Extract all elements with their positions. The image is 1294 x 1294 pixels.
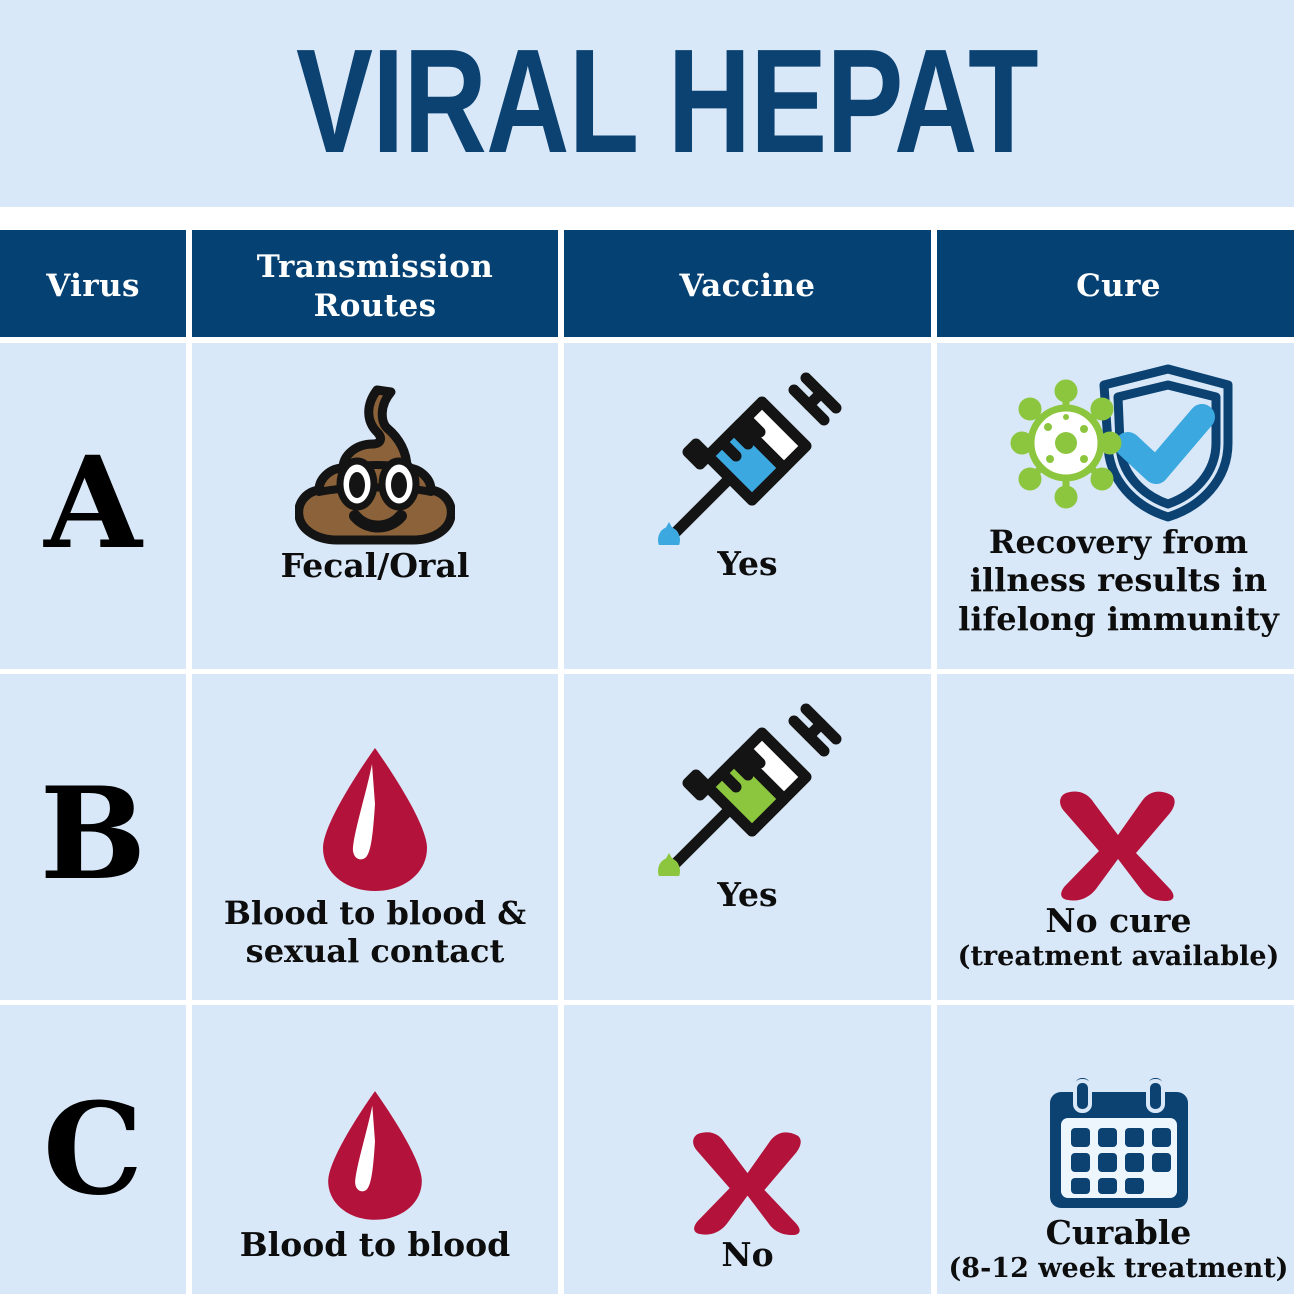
cell-cure-a: Recovery from illness results in lifelon… [937,343,1294,669]
infographic-page: VIRAL HEPAT Virus Transmission Routes Va… [0,0,1294,1294]
table-row: C Blood to blood [0,1005,1294,1294]
cure-label-c-primary: Curable [949,1214,1289,1253]
transmission-label-b-line1: Blood to blood & [224,894,526,932]
page-title: VIRAL HEPAT [296,22,1038,182]
cell-vaccine-b: Yes [564,674,931,1000]
table-header-row: Virus Transmission Routes Vaccine Cure [0,230,1294,337]
cure-label-a-line2: illness results in [970,561,1267,599]
cure-label-c: Curable (8-12 week treatment) [941,1214,1294,1285]
table-row: A [0,343,1294,669]
cure-label-a: Recovery from illness results in lifelon… [950,523,1287,638]
virus-letter-b: B [40,771,147,897]
table-body: A [0,343,1294,1294]
column-header-transmission-routes-label: Transmission Routes [257,248,494,326]
cell-cure-b: No cure (treatment available) [937,674,1294,1000]
blood-drop-icon [192,1005,558,1226]
hepatitis-comparison-table: Virus Transmission Routes Vaccine Cure A [0,230,1294,1294]
cell-virus-a: A [0,343,186,669]
cell-vaccine-c: No [564,1005,931,1294]
vaccine-label-c: No [713,1236,781,1275]
cure-label-b: No cure (treatment available) [950,902,1288,973]
cure-label-a-line3: lifelong immunity [958,600,1279,638]
syringe-icon [564,343,931,545]
virus-letter-a: A [44,440,142,566]
virus-shield-check-icon [937,343,1294,523]
column-header-vaccine: Vaccine [564,230,931,337]
poop-icon [192,343,558,547]
red-x-icon [564,1005,931,1236]
cell-virus-b: B [0,674,186,1000]
transmission-label-a: Fecal/Oral [273,547,478,586]
column-header-transmission-routes: Transmission Routes [192,230,558,337]
column-header-vaccine-label: Vaccine [680,267,816,306]
transmission-label-b: Blood to blood & sexual contact [216,894,534,971]
virus-letter-c: C [43,1086,143,1212]
red-x-icon [937,674,1294,902]
cell-cure-c: Curable (8-12 week treatment) [937,1005,1294,1294]
blood-drop-icon [192,674,558,894]
column-header-virus-label: Virus [46,267,140,306]
vaccine-label-a: Yes [709,545,785,584]
column-header-cure: Cure [937,230,1294,337]
calendar-icon [937,1005,1294,1214]
cure-label-b-primary: No cure [958,902,1280,941]
table-row: B Blood to blood & sexual contact [0,674,1294,1000]
column-header-cure-label: Cure [1076,267,1161,306]
cell-vaccine-a: Yes [564,343,931,669]
cell-virus-c: C [0,1005,186,1294]
cure-label-a-line1: Recovery from [989,523,1248,561]
column-header-virus: Virus [0,230,186,337]
cell-transmission-b: Blood to blood & sexual contact [192,674,558,1000]
cell-transmission-c: Blood to blood [192,1005,558,1294]
cure-label-b-secondary: (treatment available) [958,941,1280,973]
syringe-icon [564,674,931,876]
vaccine-label-b: Yes [709,876,785,915]
transmission-header-line1: Transmission [257,249,494,285]
transmission-label-b-line2: sexual contact [246,932,505,970]
title-banner: VIRAL HEPAT [0,0,1294,207]
transmission-label-c: Blood to blood [232,1226,518,1265]
cell-transmission-a: Fecal/Oral [192,343,558,669]
cure-label-c-secondary: (8-12 week treatment) [949,1253,1289,1285]
transmission-header-line2: Routes [314,288,437,324]
